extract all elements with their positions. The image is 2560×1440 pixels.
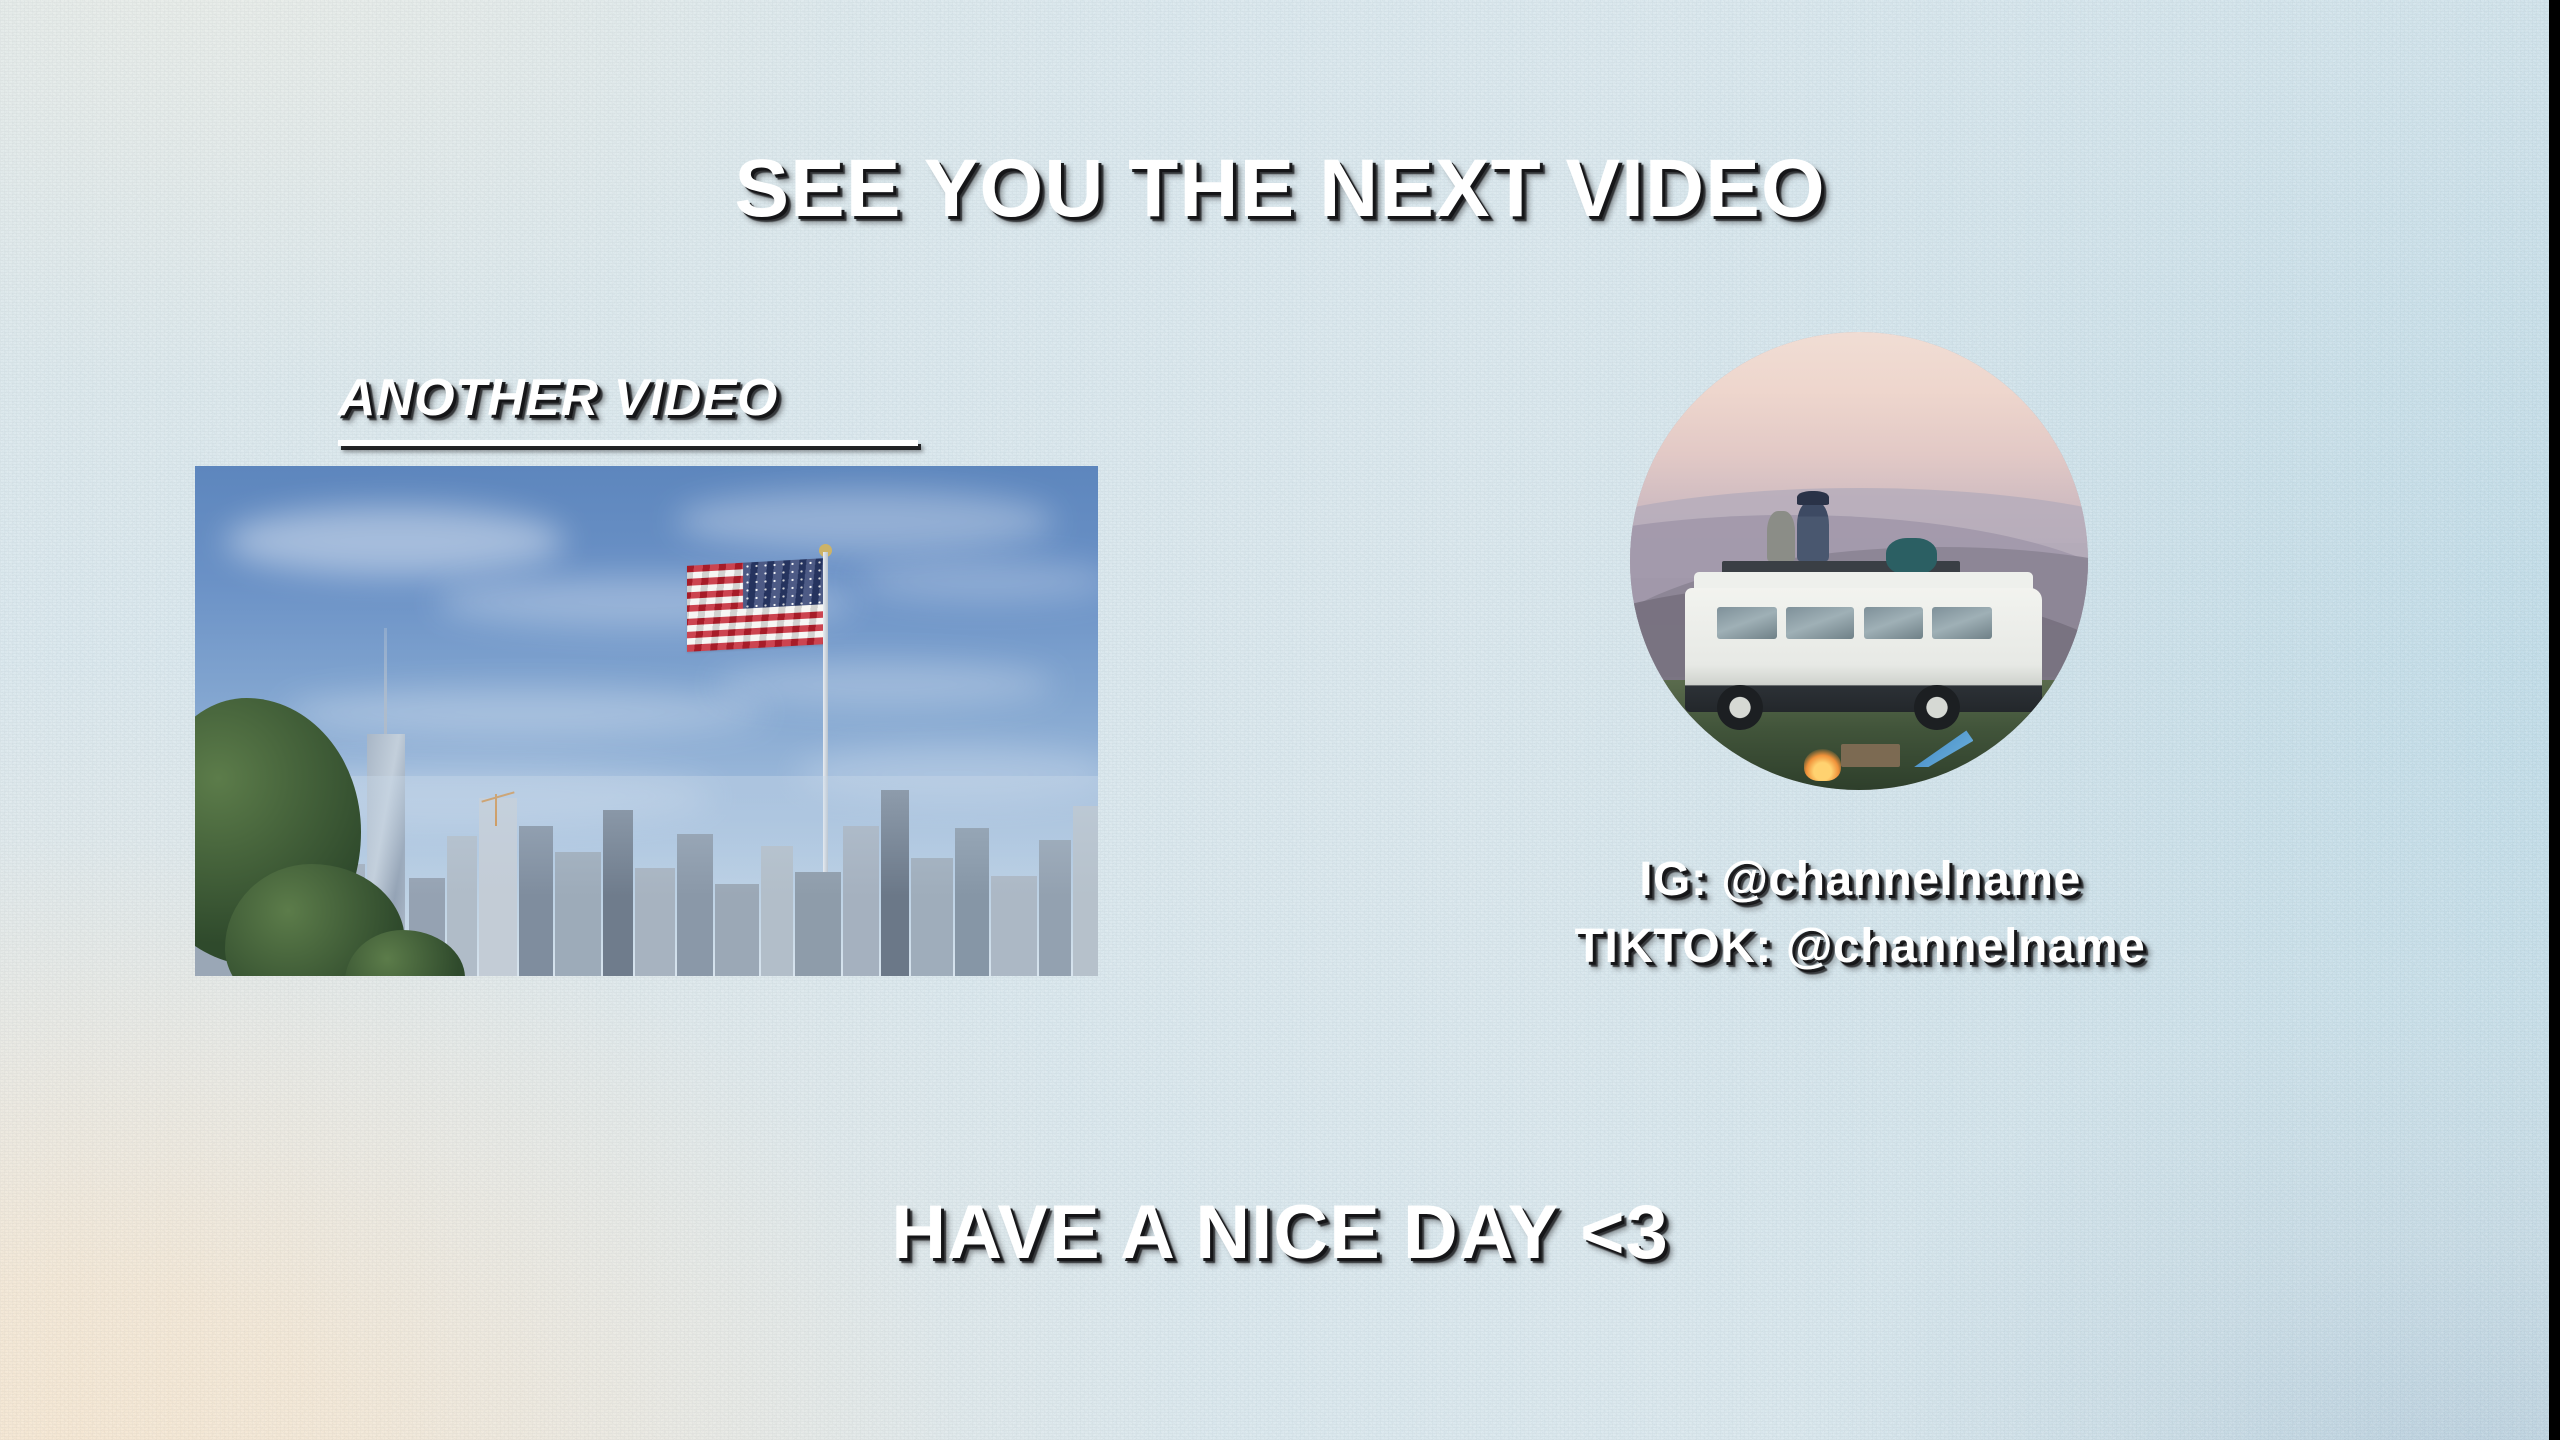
van-window [1786,607,1855,639]
building [603,810,633,976]
instagram-handle[interactable]: IG: @channelname [1200,856,2520,905]
building [519,826,553,976]
van-window [1932,607,1992,639]
van-wheel [1717,685,1763,731]
building [881,790,909,976]
another-video-thumbnail[interactable] [195,466,1098,976]
building [795,872,841,976]
cap-icon [1797,491,1829,505]
tiktok-handle[interactable]: TIKTOK: @channelname [1200,923,2520,972]
building [991,876,1037,976]
signoff-text: HAVE A NICE DAY <3 [0,1195,2560,1271]
american-flag-icon [687,558,825,652]
campfire-icon [1804,749,1841,781]
building [911,858,953,976]
cloud [715,662,1055,706]
another-video-underline [338,440,918,446]
cloud [855,561,1098,601]
social-handles: IG: @channelname TIKTOK: @channelname [1200,856,2520,972]
person-seated [1797,501,1829,561]
duffel-bag [1886,538,1936,575]
building [955,828,989,976]
another-video-label: ANOTHER VIDEO [338,372,918,424]
city-skyline [195,716,1098,976]
van-window [1717,607,1777,639]
van-window [1864,607,1924,639]
wtc-spire [384,628,387,734]
building [761,846,793,976]
right-edge-bar [2549,0,2560,1440]
building [1039,840,1071,976]
building [635,868,675,976]
cloud [675,490,1055,552]
building [843,826,879,976]
page-title: SEE YOU THE NEXT VIDEO [0,148,2560,230]
outro-end-screen: SEE YOU THE NEXT VIDEO ANOTHER VIDEO [0,0,2560,1440]
building [555,852,601,976]
flag-wave-shading [687,558,825,652]
crane-mast [495,794,497,826]
building [1073,806,1098,976]
van-wheel [1914,685,1960,731]
building [677,834,713,976]
another-video-heading-block: ANOTHER VIDEO [338,372,918,446]
camp-table [1841,744,1901,767]
building [479,798,517,976]
person-seated [1767,511,1794,561]
avatar[interactable] [1630,332,2088,790]
cloud [225,506,565,576]
building [715,884,759,976]
